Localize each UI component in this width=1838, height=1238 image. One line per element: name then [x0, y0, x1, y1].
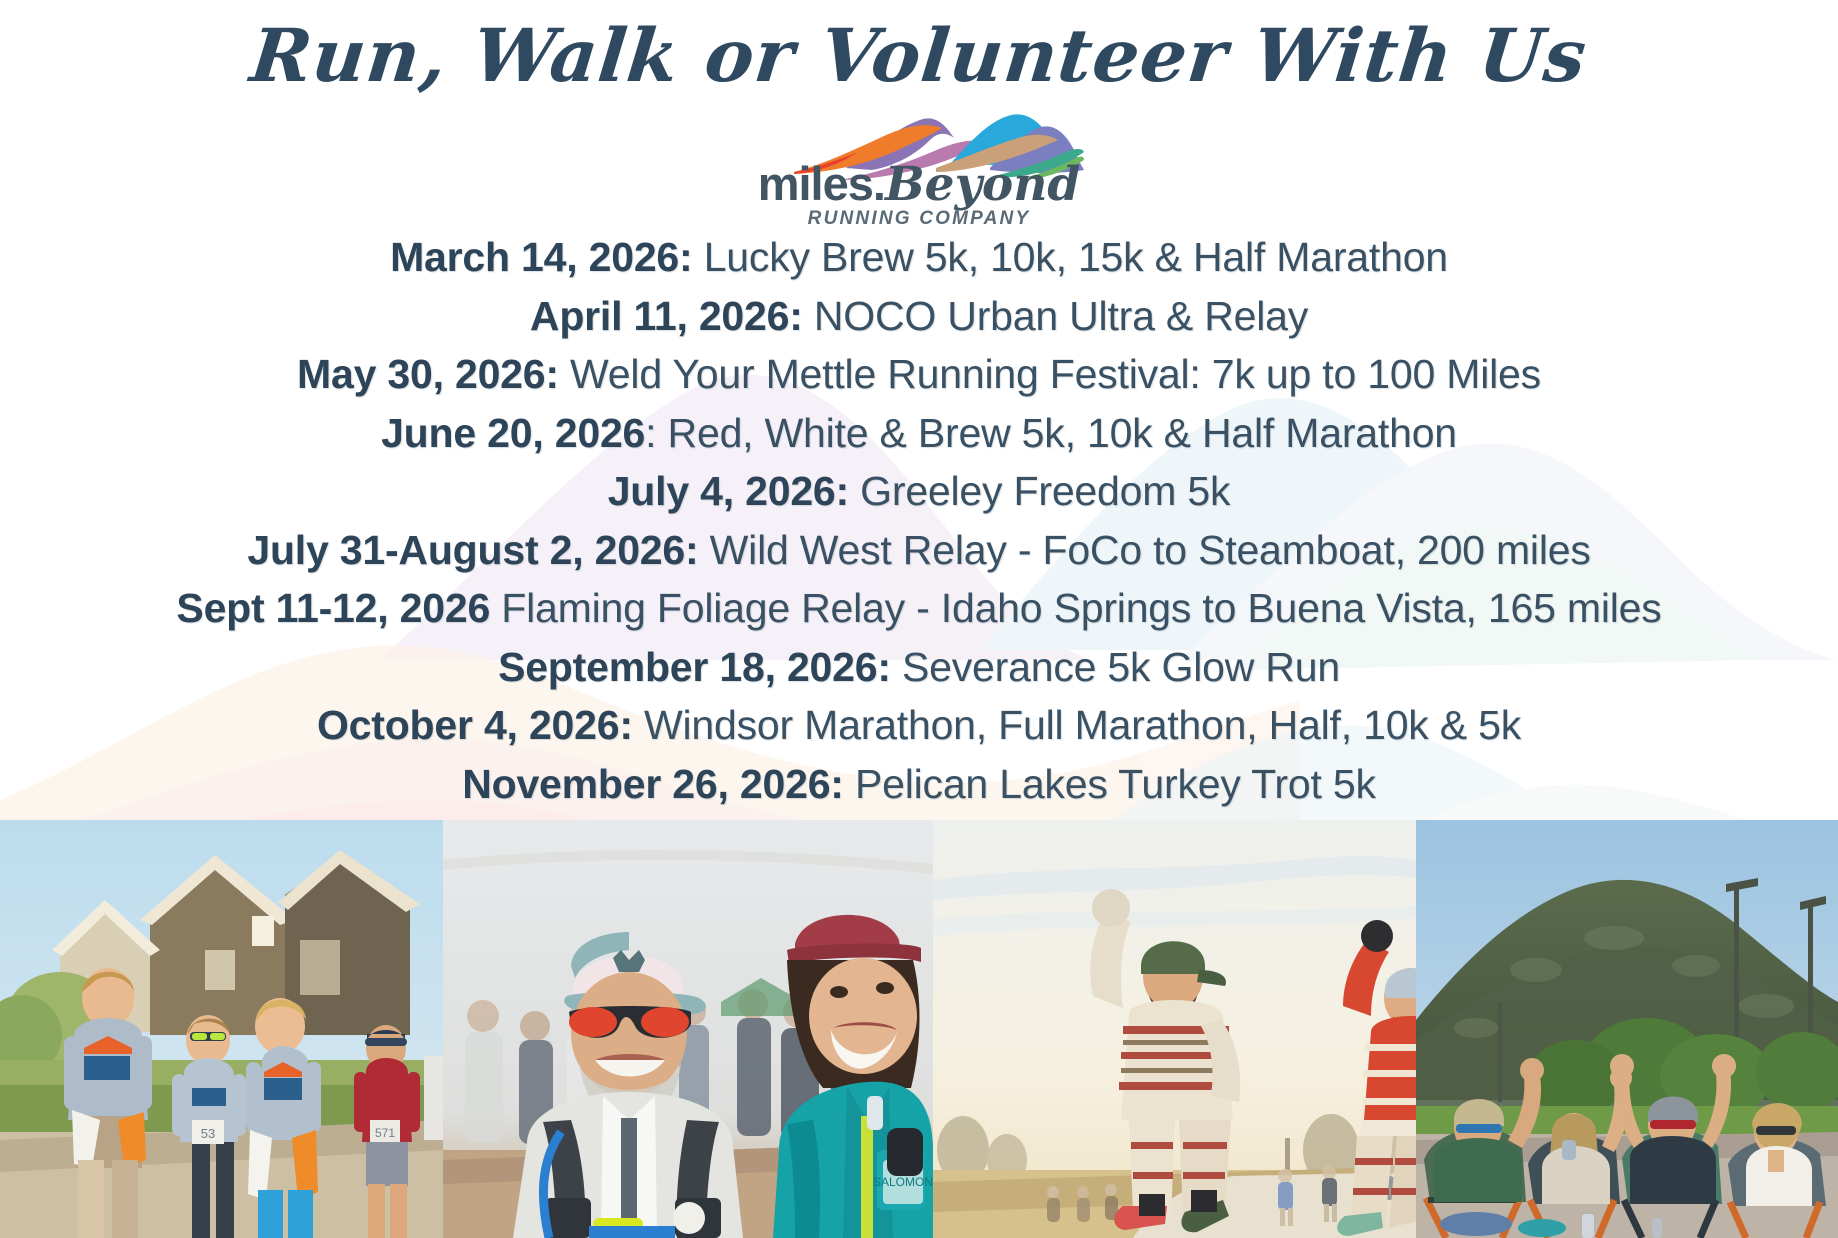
photo-strip: 53	[0, 820, 1838, 1238]
event-date: June 20, 2026	[381, 410, 645, 456]
event-date: November 26, 2026:	[462, 761, 844, 807]
event-schedule-poster: Run, Walk or Volunteer With Us	[0, 0, 1838, 1238]
event-description: Greeley Freedom 5k	[849, 468, 1230, 514]
svg-text:53: 53	[201, 1126, 215, 1141]
poster-title-container: Run, Walk or Volunteer With Us	[0, 18, 1838, 95]
logo-wordmark: miles.Beyond	[754, 160, 1084, 208]
event-line: November 26, 2026: Pelican Lakes Turkey …	[0, 755, 1838, 814]
logo-tagline: RUNNING COMPANY	[754, 208, 1084, 230]
page-title: Run, Walk or Volunteer With Us	[247, 18, 1590, 95]
event-description: NOCO Urban Ultra & Relay	[803, 293, 1308, 339]
event-date: July 31-August 2, 2026:	[247, 527, 698, 573]
event-line: June 20, 2026: Red, White & Brew 5k, 10k…	[0, 404, 1838, 463]
photo-kids-running-windsor-marathon: 53	[0, 820, 443, 1238]
event-description: Flaming Foliage Relay - Idaho Springs to…	[490, 585, 1662, 631]
event-description: Wild West Relay - FoCo to Steamboat, 200…	[698, 527, 1590, 573]
event-date: May 30, 2026:	[297, 351, 559, 397]
event-line: July 31-August 2, 2026: Wild West Relay …	[0, 521, 1838, 580]
event-line: July 4, 2026: Greeley Freedom 5k	[0, 462, 1838, 521]
event-date: April 11, 2026:	[530, 293, 803, 339]
event-date: Sept 11-12, 2026	[176, 585, 490, 631]
logo-word-primary: miles.	[758, 157, 885, 210]
event-line: Sept 11-12, 2026 Flaming Foliage Relay -…	[0, 579, 1838, 638]
event-description: Lucky Brew 5k, 10k, 15k & Half Marathon	[693, 234, 1448, 280]
photo-trail-runners-smiling: SALOMON	[443, 820, 933, 1238]
brand-logo: miles.Beyond RUNNING COMPANY	[754, 108, 1084, 233]
event-description: Pelican Lakes Turkey Trot 5k	[844, 761, 1376, 807]
event-description: Windsor Marathon, Full Marathon, Half, 1…	[633, 702, 1521, 748]
event-date: September 18, 2026:	[498, 644, 891, 690]
event-date: July 4, 2026:	[608, 468, 849, 514]
event-date: October 4, 2026:	[317, 702, 633, 748]
photo-runners-jumping-onesies	[933, 820, 1416, 1238]
event-description: Severance 5k Glow Run	[891, 644, 1340, 690]
event-description: Weld Your Mettle Running Festival: 7k up…	[559, 351, 1541, 397]
svg-text:SALOMON: SALOMON	[873, 1175, 933, 1189]
event-schedule-list: March 14, 2026: Lucky Brew 5k, 10k, 15k …	[0, 228, 1838, 872]
logo-word-secondary: Beyond	[885, 157, 1080, 212]
event-line: September 18, 2026: Severance 5k Glow Ru…	[0, 638, 1838, 697]
event-description: : Red, White & Brew 5k, 10k & Half Marat…	[645, 410, 1457, 456]
event-line: March 14, 2026: Lucky Brew 5k, 10k, 15k …	[0, 228, 1838, 287]
event-line: May 30, 2026: Weld Your Mettle Running F…	[0, 345, 1838, 404]
event-date: March 14, 2026:	[390, 234, 692, 280]
photo-spectators-camp-chairs	[1416, 820, 1838, 1238]
event-line: October 4, 2026: Windsor Marathon, Full …	[0, 696, 1838, 755]
event-line: April 11, 2026: NOCO Urban Ultra & Relay	[0, 287, 1838, 346]
svg-text:571: 571	[375, 1126, 395, 1140]
